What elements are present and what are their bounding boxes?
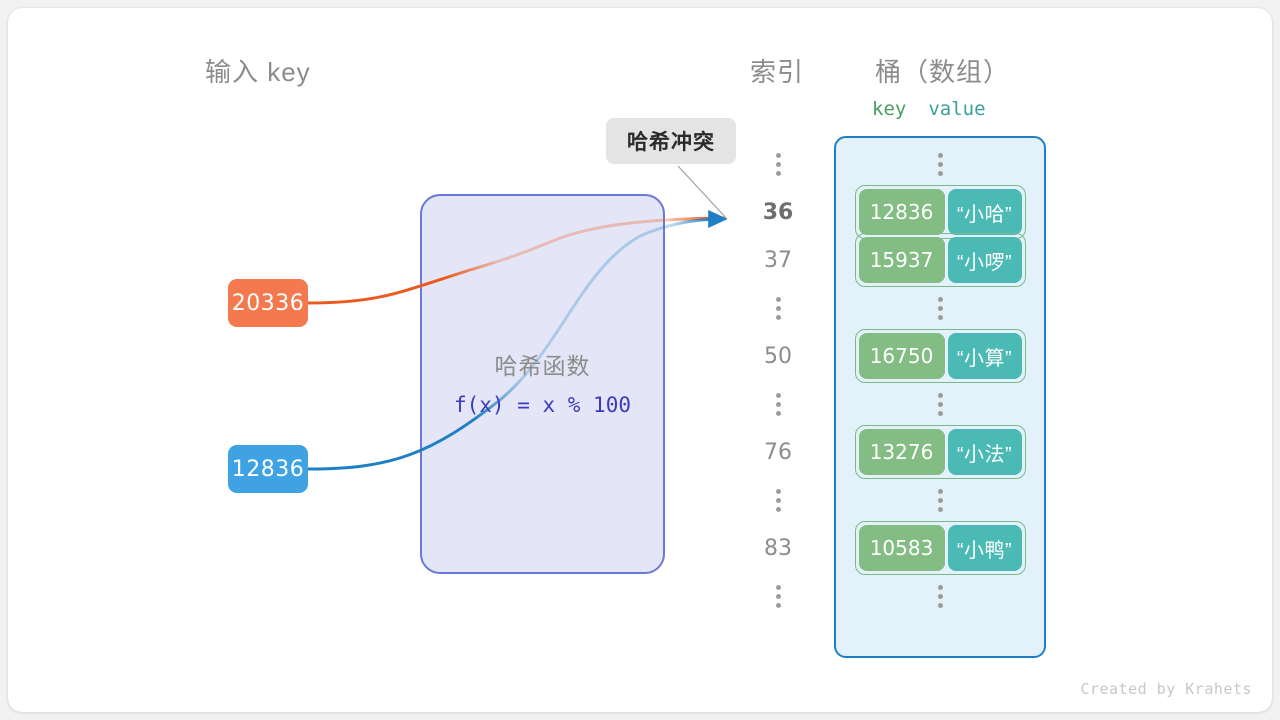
hash-collision-label: 哈希冲突 — [606, 118, 736, 164]
heading-input-key: 输入 key — [205, 52, 311, 89]
entry-value: “小啰” — [948, 237, 1022, 283]
index-value-50: 50 — [742, 332, 814, 380]
bucket-ellipsis — [834, 284, 1046, 332]
bucket-entry[interactable]: 16750“小算” — [834, 332, 1046, 380]
heading-key-value: keyvalue — [872, 98, 986, 120]
entry-pair[interactable]: 13276“小法” — [855, 425, 1026, 479]
heading-value: value — [928, 98, 985, 120]
credit-text: Created by Krahets — [1080, 680, 1252, 698]
entry-key: 12836 — [859, 189, 945, 235]
input-key-chip-20336[interactable]: 20336 — [228, 279, 308, 327]
index-value-83: 83 — [742, 524, 814, 572]
index-ellipsis — [742, 380, 814, 428]
hash-function-box — [420, 194, 665, 574]
diagram-canvas: 输入 key 索引 桶（数组） keyvalue 20336 12836 — [0, 0, 1280, 720]
index-value-36: 36 — [742, 188, 814, 236]
index-ellipsis — [742, 476, 814, 524]
entry-value: “小鸭” — [948, 525, 1022, 571]
bucket-entry[interactable]: 13276“小法” — [834, 428, 1046, 476]
hash-function-title: 哈希函数 — [420, 347, 665, 381]
entry-value: “小哈” — [948, 189, 1022, 235]
hash-function-formula: f(x) = x % 100 — [420, 393, 665, 417]
entry-value: “小法” — [948, 429, 1022, 475]
entry-key: 15937 — [859, 237, 945, 283]
vertical-dots-icon — [938, 489, 943, 512]
bucket-entry[interactable]: 10583“小鸭” — [834, 524, 1046, 572]
entry-key: 13276 — [859, 429, 945, 475]
vertical-dots-icon — [938, 297, 943, 320]
vertical-dots-icon — [776, 297, 781, 320]
heading-key: key — [872, 98, 906, 120]
entry-pair[interactable]: 10583“小鸭” — [855, 521, 1026, 575]
index-ellipsis — [742, 140, 814, 188]
entry-pair[interactable]: 16750“小算” — [855, 329, 1026, 383]
bucket-entry[interactable]: 12836“小哈” — [834, 188, 1046, 236]
vertical-dots-icon — [776, 585, 781, 608]
entry-pair[interactable]: 15937“小啰” — [855, 233, 1026, 287]
vertical-dots-icon — [938, 153, 943, 176]
bucket-ellipsis — [834, 572, 1046, 620]
vertical-dots-icon — [776, 489, 781, 512]
entry-key: 16750 — [859, 333, 945, 379]
index-value-37: 37 — [742, 236, 814, 284]
index-ellipsis — [742, 284, 814, 332]
vertical-dots-icon — [776, 153, 781, 176]
entry-value: “小算” — [948, 333, 1022, 379]
bucket-ellipsis — [834, 140, 1046, 188]
vertical-dots-icon — [776, 393, 781, 416]
vertical-dots-icon — [938, 393, 943, 416]
entry-pair[interactable]: 12836“小哈” — [855, 185, 1026, 239]
bucket-ellipsis — [834, 476, 1046, 524]
heading-bucket-array: 桶（数组） — [875, 52, 1010, 89]
index-column: 3637507683 — [742, 140, 814, 620]
index-value-76: 76 — [742, 428, 814, 476]
entry-key: 10583 — [859, 525, 945, 571]
bucket-entry[interactable]: 15937“小啰” — [834, 236, 1046, 284]
index-ellipsis — [742, 572, 814, 620]
input-key-chip-12836[interactable]: 12836 — [228, 445, 308, 493]
bucket-ellipsis — [834, 380, 1046, 428]
bucket-rows: 12836“小哈”15937“小啰”16750“小算”13276“小法”1058… — [834, 136, 1046, 658]
heading-index: 索引 — [750, 52, 804, 89]
vertical-dots-icon — [938, 585, 943, 608]
